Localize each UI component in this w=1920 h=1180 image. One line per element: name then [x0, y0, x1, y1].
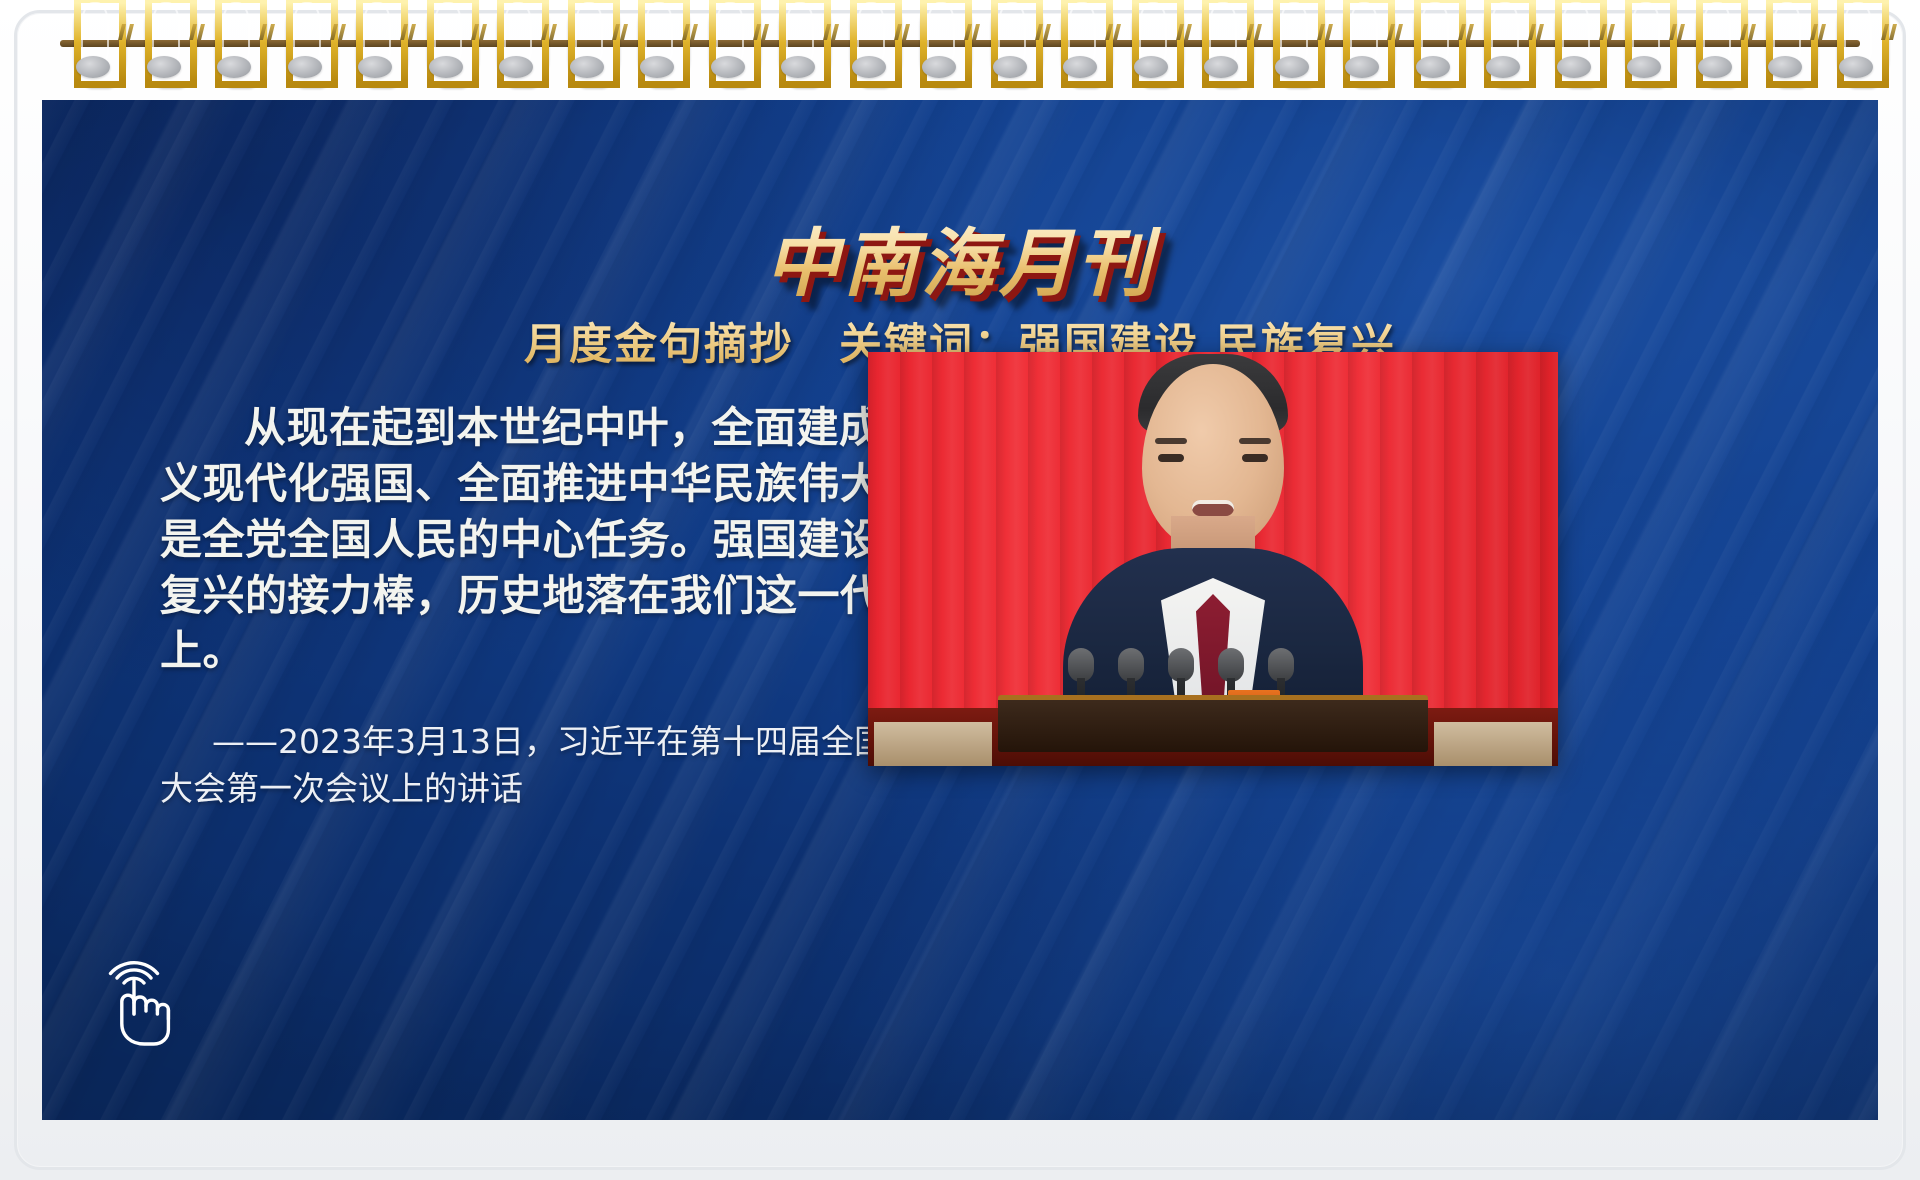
binding-tick: [1325, 24, 1333, 40]
binding-tick: [126, 24, 134, 40]
podium-panel-right: [1434, 722, 1552, 766]
podium-panel-left: [874, 722, 992, 766]
binding-ring: [145, 0, 183, 78]
binding-ring: [568, 0, 606, 78]
notebook-page: 中南海月刊 月度金句摘抄 关键词：强国建设 民族复兴 从现在起到本世纪中叶，全面…: [0, 0, 1920, 1180]
binding-ring: [1343, 0, 1381, 78]
page-title: 中南海月刊: [755, 204, 1165, 311]
binding-ring: [1766, 0, 1804, 78]
binding-ring: [1696, 0, 1734, 78]
binding-tick: [972, 24, 980, 40]
finger-3: [146, 1000, 157, 1014]
tap-hand-icon[interactable]: [100, 956, 186, 1046]
binding-tick: [1184, 24, 1192, 40]
binding-ring: [779, 0, 817, 78]
binding-tick: [690, 24, 698, 40]
binding-ring: [1202, 0, 1240, 78]
binding-tick: [831, 24, 839, 40]
binding-ring: [1273, 0, 1311, 78]
spiral-binding: [0, 0, 1920, 96]
binding-tick: [1113, 24, 1121, 40]
finger-2: [134, 997, 146, 1011]
binding-ring: [1837, 0, 1875, 78]
binding-ring: [1132, 0, 1170, 78]
binding-tick: [1254, 24, 1262, 40]
podium-desk: [998, 695, 1428, 752]
binding-ring: [215, 0, 253, 78]
eyebrow-right: [1239, 438, 1271, 444]
binding-tick: [620, 24, 628, 40]
binding-ring: [991, 0, 1029, 78]
binding-ring: [286, 0, 324, 78]
speech-photo: [868, 352, 1558, 766]
suit-torso: [1063, 548, 1363, 718]
binding-tick: [1818, 24, 1826, 40]
binding-tick: [1466, 24, 1474, 40]
binding-tick: [479, 24, 487, 40]
binding-ring: [497, 0, 535, 78]
eye-left: [1158, 454, 1184, 462]
binding-ring: [1484, 0, 1522, 78]
binding-ring: [1625, 0, 1663, 78]
binding-tick: [408, 24, 416, 40]
binding-ring: [1061, 0, 1099, 78]
binding-tick: [1536, 24, 1544, 40]
binding-ring: [920, 0, 958, 78]
binding-tick: [1889, 24, 1897, 40]
binding-tick: [1043, 24, 1051, 40]
binding-tick: [1677, 24, 1685, 40]
binding-ring: [1414, 0, 1452, 78]
binding-tick: [338, 24, 346, 40]
ripple-outer: [111, 963, 158, 974]
binding-ring: [74, 0, 112, 78]
binding-tick: [1748, 24, 1756, 40]
binding-ring: [1555, 0, 1593, 78]
binding-tick: [1607, 24, 1615, 40]
binding-tick: [197, 24, 205, 40]
binding-tick: [267, 24, 275, 40]
speaker-figure: [1063, 388, 1363, 718]
binding-ring: [427, 0, 465, 78]
eye-right: [1242, 454, 1268, 462]
binding-ring: [850, 0, 888, 78]
binding-tick: [902, 24, 910, 40]
binding-ring: [356, 0, 394, 78]
binding-tick: [761, 24, 769, 40]
slide-canvas: 中南海月刊 月度金句摘抄 关键词：强国建设 民族复兴 从现在起到本世纪中叶，全面…: [42, 100, 1878, 1120]
masthead: 中南海月刊: [42, 204, 1878, 311]
mouth: [1192, 500, 1234, 516]
eyebrow-left: [1155, 438, 1187, 444]
binding-ring: [709, 0, 747, 78]
binding-ring: [638, 0, 676, 78]
binding-tick: [549, 24, 557, 40]
binding-tick: [1395, 24, 1403, 40]
